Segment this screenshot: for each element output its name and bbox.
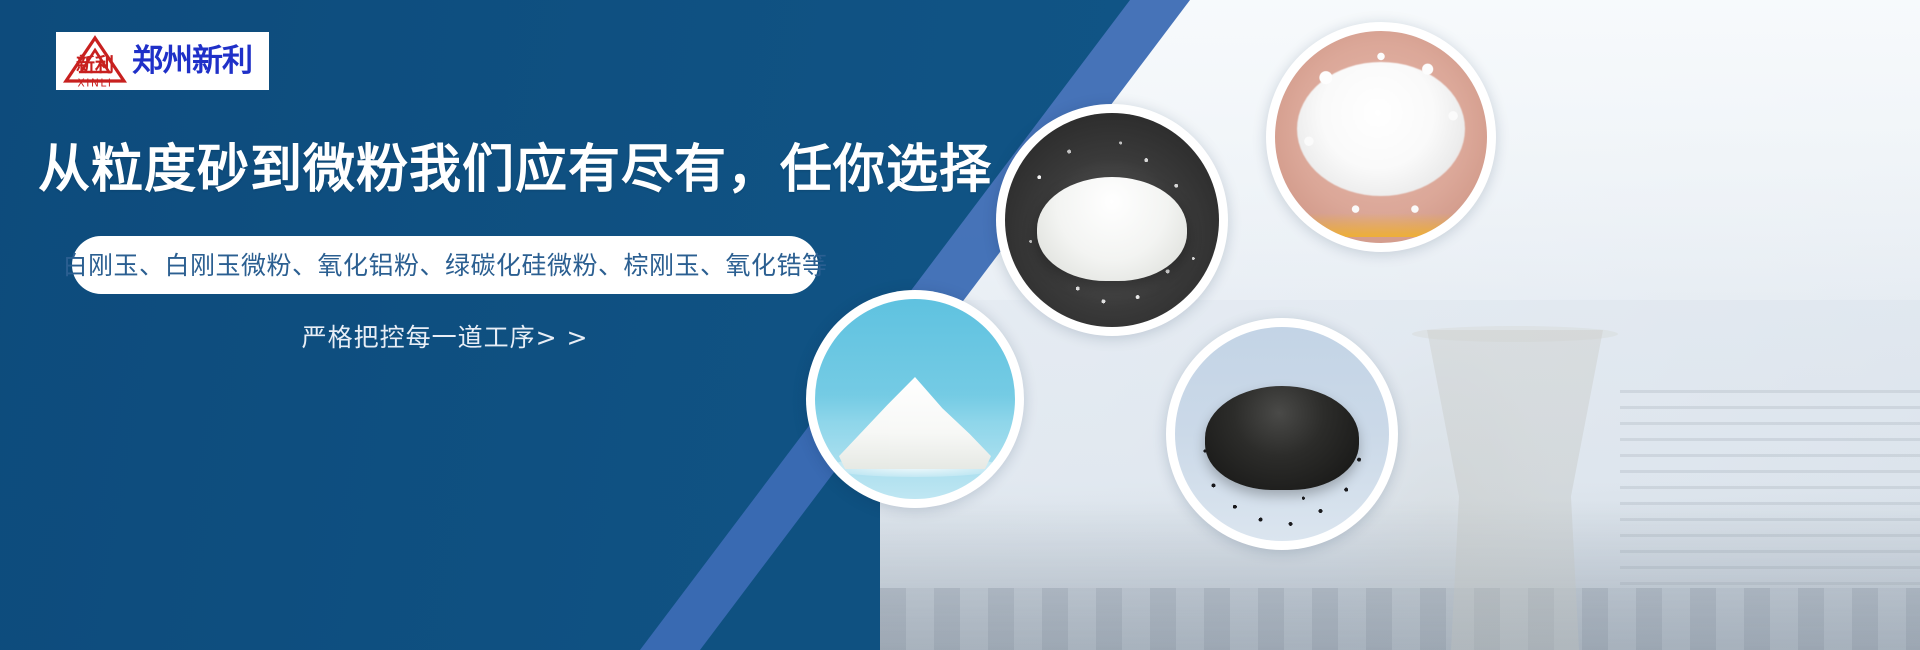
factory-pipes: [1620, 390, 1920, 590]
product-list-pill: 白刚玉、白刚玉微粉、氧化铝粉、绿碳化硅微粉、棕刚玉、氧化锆等: [72, 236, 818, 294]
product-photo-black-grain: [1166, 318, 1398, 550]
xinli-triangle-icon: 新利 XINLI: [62, 34, 128, 88]
svg-text:XINLI: XINLI: [77, 78, 112, 89]
tray-warm-edge: [1275, 213, 1487, 237]
product-list-text: 白刚玉、白刚玉微粉、氧化铝粉、绿碳化硅微粉、棕刚玉、氧化锆等: [63, 253, 828, 278]
product-photo-white-grain: [996, 104, 1228, 336]
headline: 从粒度砂到微粉我们应有尽有，任你选择: [38, 140, 992, 201]
black-grain-mound: [1205, 386, 1359, 490]
white-grain-mound: [1037, 177, 1187, 281]
company-logo[interactable]: 新利 XINLI 郑州新利: [56, 32, 269, 90]
svg-text:新利: 新利: [76, 53, 114, 76]
powder-lumps: [1275, 31, 1487, 243]
logo-wordmark: 郑州新利: [132, 46, 252, 77]
product-photo-white-powder: [1266, 22, 1496, 252]
product-photo-alumina-cone: [806, 290, 1024, 508]
white-powder-cone: [839, 377, 991, 469]
process-cta-text[interactable]: 严格把控每一道工序> >: [72, 325, 818, 350]
hero-banner: 新利 XINLI 郑州新利 从粒度砂到微粉我们应有尽有，任你选择 白刚玉、白刚玉…: [0, 0, 1920, 650]
